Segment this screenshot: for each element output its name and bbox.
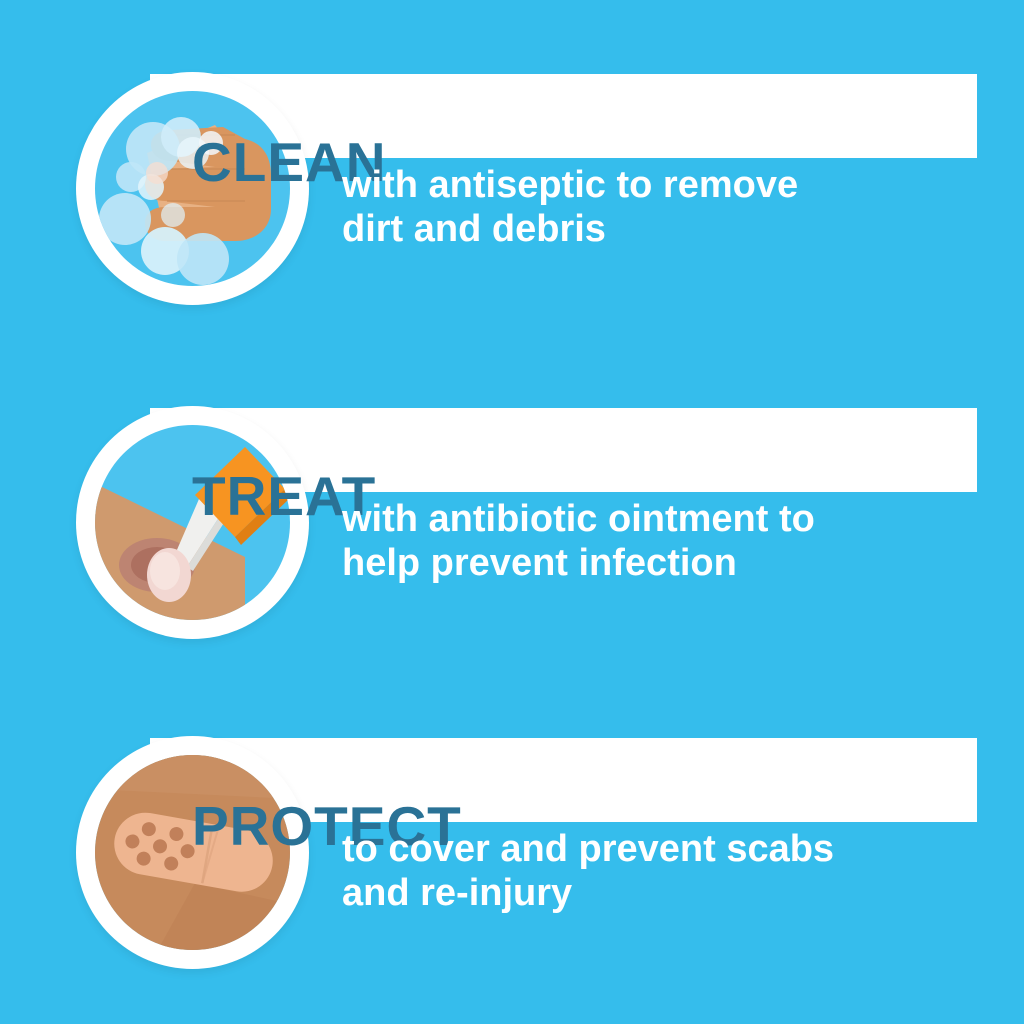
- step-body-line: help prevent infection: [342, 541, 982, 585]
- step-body-line: with antibiotic ointment to: [342, 497, 982, 541]
- step-body-line: dirt and debris: [342, 207, 982, 251]
- step-body-line: with antiseptic to remove: [342, 163, 982, 207]
- step-body: with antibiotic ointment to help prevent…: [342, 497, 982, 585]
- step-body-line: and re-injury: [342, 871, 982, 915]
- step-body: with antiseptic to remove dirt and debri…: [342, 163, 982, 251]
- step-body-line: to cover and prevent scabs: [342, 827, 982, 871]
- step-body: to cover and prevent scabs and re-injury: [342, 827, 982, 915]
- infographic-canvas: CLEAN with antiseptic to remove dirt and…: [0, 0, 1024, 1024]
